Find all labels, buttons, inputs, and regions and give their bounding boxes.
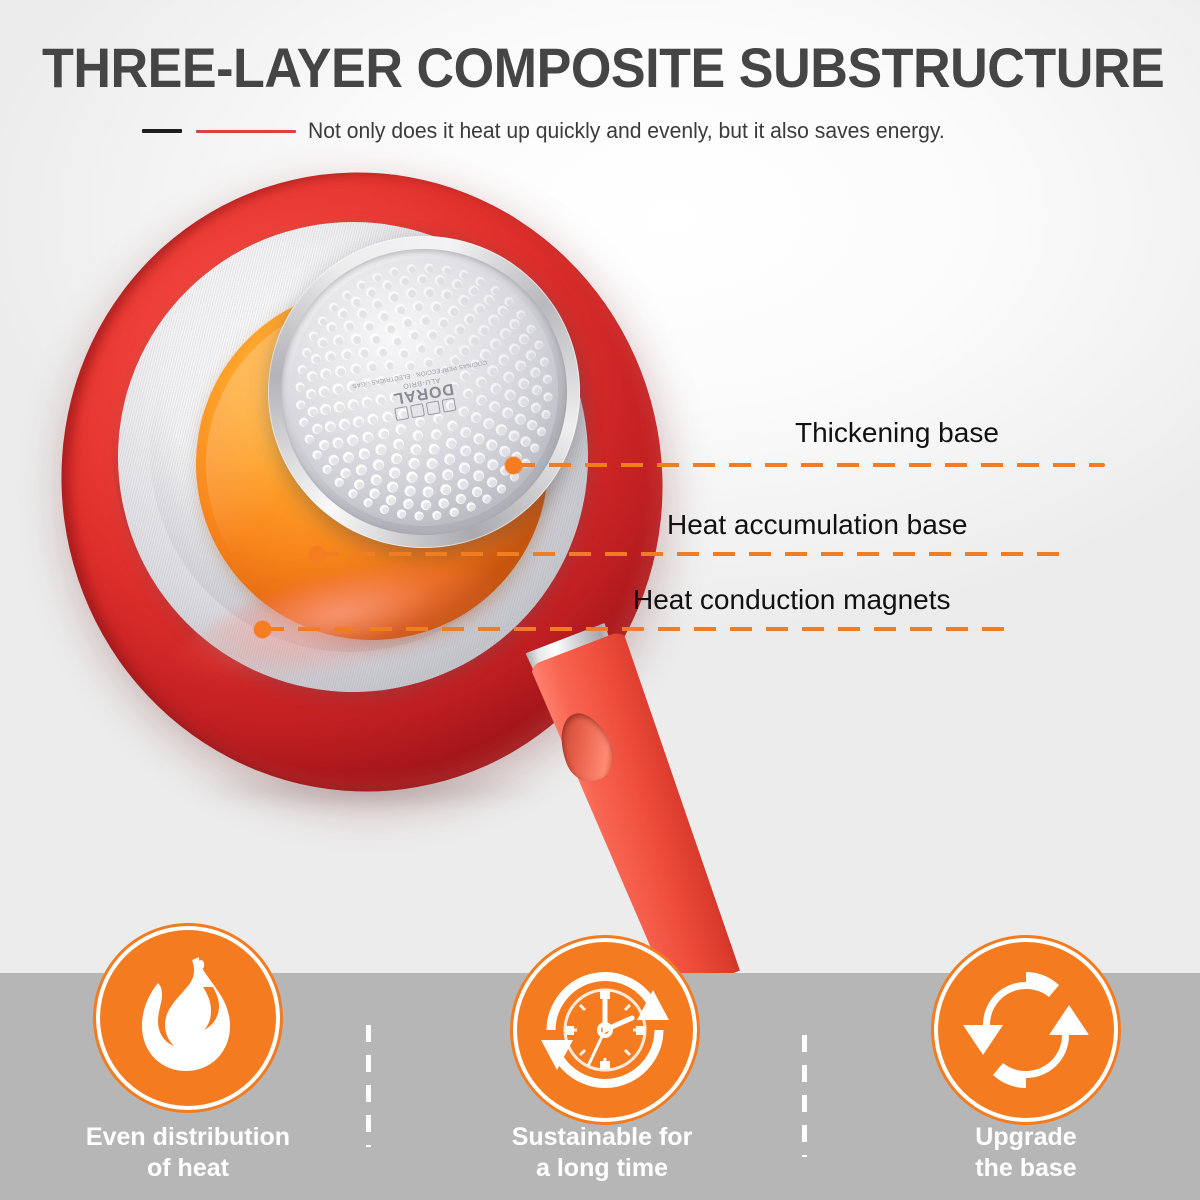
- electric-symbol-icon: [411, 404, 426, 419]
- gas-symbol-icon: [426, 401, 441, 416]
- infographic-canvas: THREE-LAYER COMPOSITE SUBSTRUCTURE Not o…: [0, 0, 1200, 1200]
- feature-label-1: Even distribution of heat: [38, 1122, 338, 1184]
- feature-label-2: Sustainable for a long time: [452, 1122, 752, 1184]
- feature-label-3: Upgrade the base: [876, 1122, 1176, 1184]
- callout-label-3: Heat conduction magnets: [633, 584, 951, 616]
- callout-line-2: [317, 552, 1065, 556]
- callout-dot-2: [309, 546, 326, 563]
- feature-separator-2: [802, 1035, 807, 1157]
- feature-separator-1: [366, 1025, 371, 1147]
- callout-label-1: Thickening base: [795, 417, 999, 449]
- callout-line-1: [513, 463, 1105, 467]
- callout-dot-1: [505, 457, 522, 474]
- callout-line-3: [262, 627, 1005, 631]
- callout-dot-3: [254, 621, 271, 638]
- callout-label-2: Heat accumulation base: [667, 509, 967, 541]
- flame-icon: [100, 930, 276, 1106]
- base-logo: DORAL ALU-BRIO COCINAS PERFECCIÓN · ELEC…: [359, 329, 486, 456]
- clock-rotate-icon: [517, 942, 693, 1118]
- halogen-symbol-icon: [395, 406, 410, 421]
- refresh-arrows-icon: [938, 942, 1114, 1118]
- induction-symbol-icon: [442, 398, 457, 413]
